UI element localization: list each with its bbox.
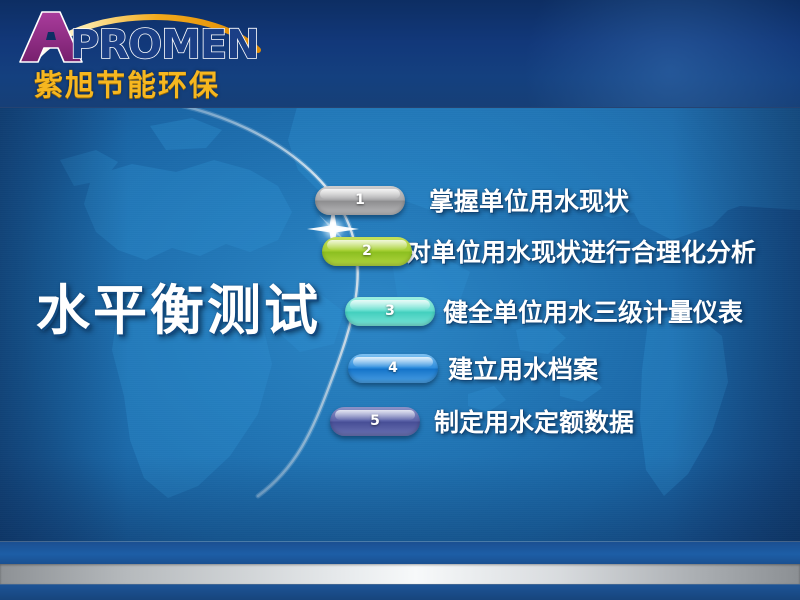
step-pill-5[interactable]: 5 [330, 407, 420, 436]
step-label-3: 健全单位用水三级计量仪表 [443, 293, 743, 329]
step-pill-4[interactable]: 4 [348, 354, 438, 383]
list-item[interactable]: 4 建立用水档案 [348, 350, 598, 386]
step-pill-3[interactable]: 3 [345, 297, 435, 326]
step-label-4: 建立用水档案 [448, 350, 598, 386]
apromen-logo-icon: PROMEN [8, 2, 288, 66]
step-pill-1[interactable]: 1 [315, 186, 405, 215]
footer-upper-band [0, 542, 800, 564]
step-number: 1 [355, 192, 365, 208]
svg-text:PROMEN: PROMEN [70, 22, 259, 66]
step-label-2: 对单位用水现状进行合理化分析 [406, 233, 756, 269]
slide-canvas: PROMEN 紫旭节能环保 水平衡测试 1 掌握单位用水现状 2 [0, 0, 800, 600]
logo-chinese-subtitle: 紫旭节能环保 [34, 62, 220, 104]
logo-header-band: PROMEN 紫旭节能环保 [0, 0, 800, 108]
step-number: 5 [370, 413, 380, 429]
list-item[interactable]: 3 健全单位用水三级计量仪表 [345, 293, 743, 329]
step-number: 4 [388, 360, 398, 376]
footer-silver-band [0, 564, 800, 584]
step-number: 3 [385, 303, 395, 319]
step-label-5: 制定用水定额数据 [434, 403, 634, 439]
list-item[interactable]: 5 制定用水定额数据 [330, 403, 634, 439]
footer-bottom-band [0, 584, 800, 600]
logo-mark: PROMEN [8, 2, 288, 66]
step-number: 2 [362, 243, 372, 259]
page-title: 水平衡测试 [36, 266, 321, 345]
list-item[interactable]: 1 掌握单位用水现状 [315, 182, 629, 218]
step-label-1: 掌握单位用水现状 [429, 182, 629, 218]
list-item[interactable]: 2 对单位用水现状进行合理化分析 [322, 233, 756, 269]
step-pill-2[interactable]: 2 [322, 237, 412, 266]
